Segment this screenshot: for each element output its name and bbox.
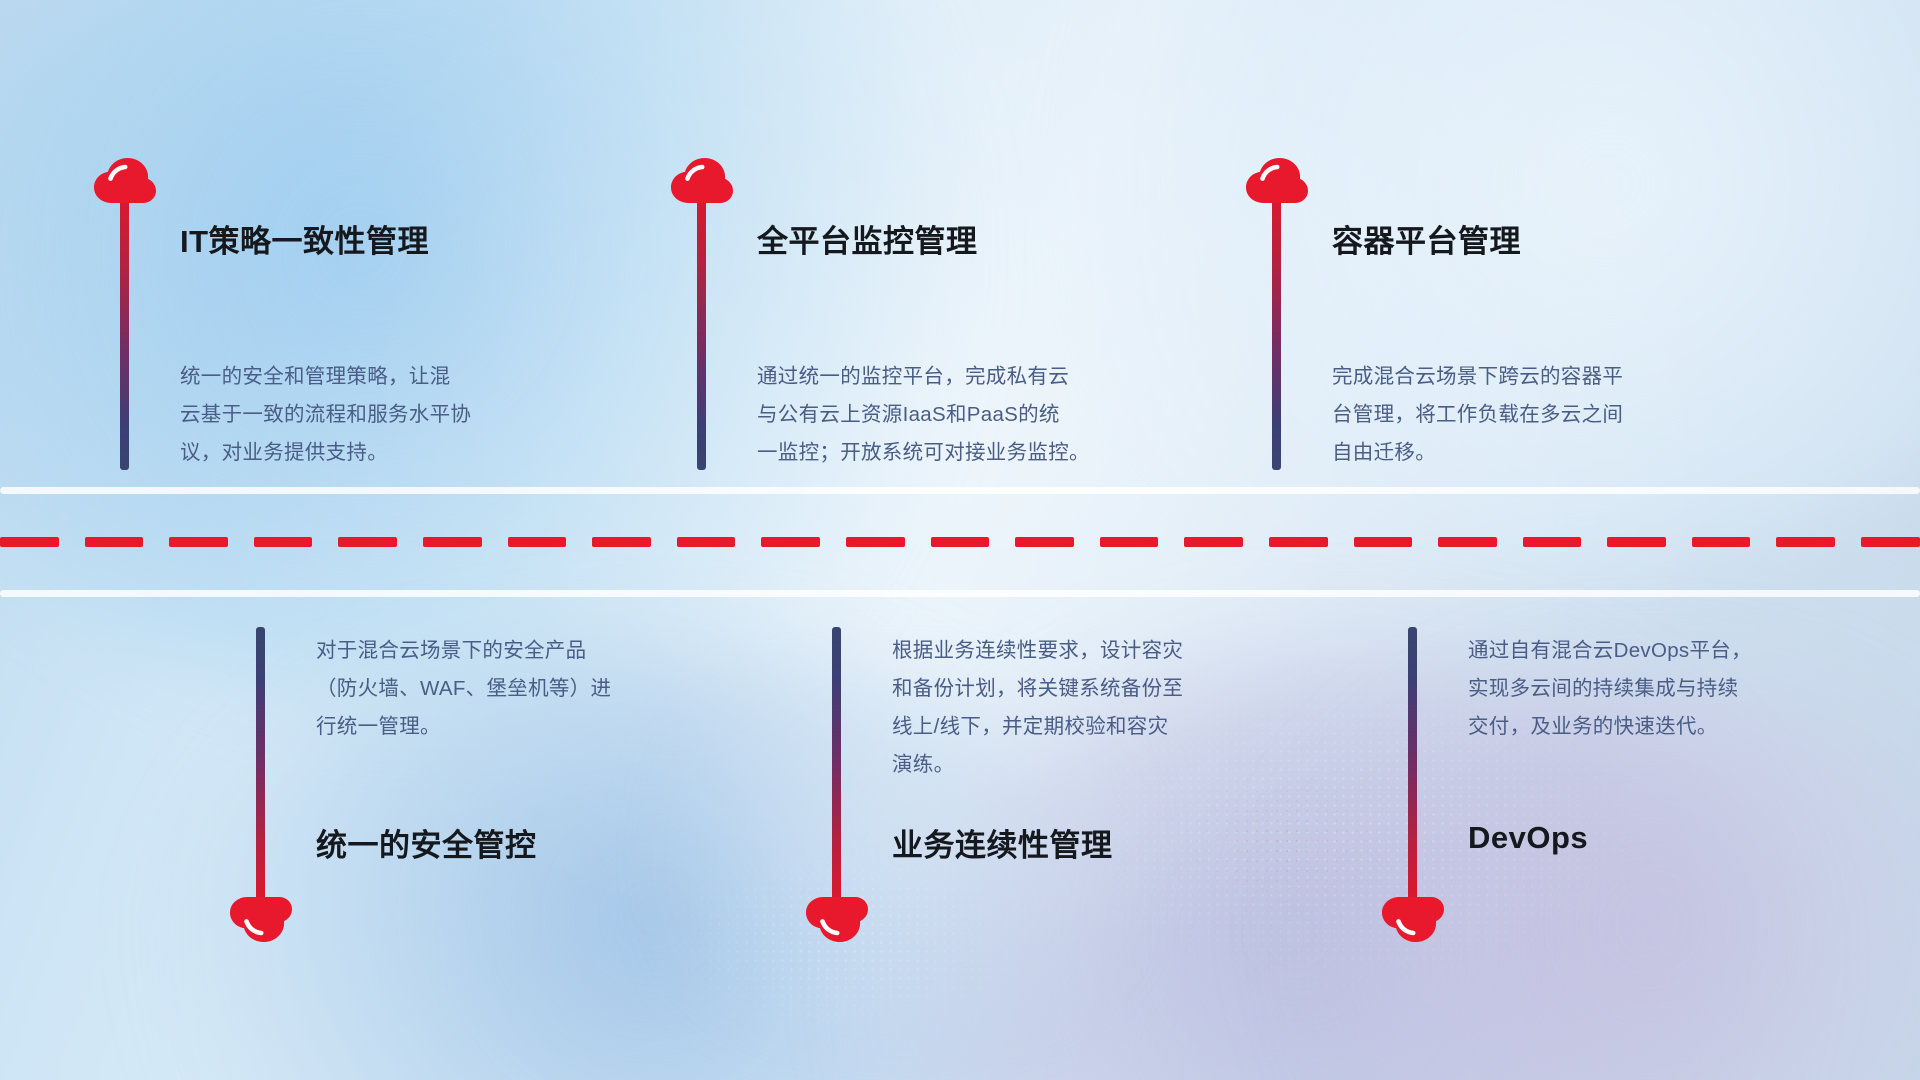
dash-segment xyxy=(85,537,144,547)
dash-segment xyxy=(1100,537,1159,547)
dash-segment xyxy=(846,537,905,547)
dash-segment xyxy=(1015,537,1074,547)
dash-segment xyxy=(1438,537,1497,547)
dash-segment xyxy=(0,537,59,547)
item-title: DevOps xyxy=(1468,820,1588,856)
dash-segment xyxy=(169,537,228,547)
dash-segment xyxy=(1776,537,1835,547)
dash-segment xyxy=(1184,537,1243,547)
dash-segment xyxy=(761,537,820,547)
item-title: 容器平台管理 xyxy=(1332,216,1521,261)
dash-segment xyxy=(677,537,736,547)
dash-segment xyxy=(1861,537,1920,547)
dash-segment xyxy=(254,537,313,547)
dot-texture-red xyxy=(1152,756,1421,929)
item-title: IT策略一致性管理 xyxy=(180,216,429,261)
dash-segment xyxy=(1692,537,1751,547)
divider-rail-bottom xyxy=(0,590,1920,597)
dash-segment xyxy=(931,537,990,547)
dash-segment xyxy=(592,537,651,547)
item-title: 业务连续性管理 xyxy=(892,820,1113,865)
dash-segment xyxy=(1354,537,1413,547)
dashed-line xyxy=(0,537,1920,547)
item-title: 统一的安全管控 xyxy=(316,820,537,865)
dash-segment xyxy=(1523,537,1582,547)
item-title: 全平台监控管理 xyxy=(757,216,978,261)
dash-segment xyxy=(338,537,397,547)
dash-segment xyxy=(1607,537,1666,547)
dash-segment xyxy=(1269,537,1328,547)
center-divider xyxy=(0,487,1920,597)
dash-segment xyxy=(508,537,567,547)
dash-segment xyxy=(423,537,482,547)
divider-rail-top xyxy=(0,487,1920,494)
